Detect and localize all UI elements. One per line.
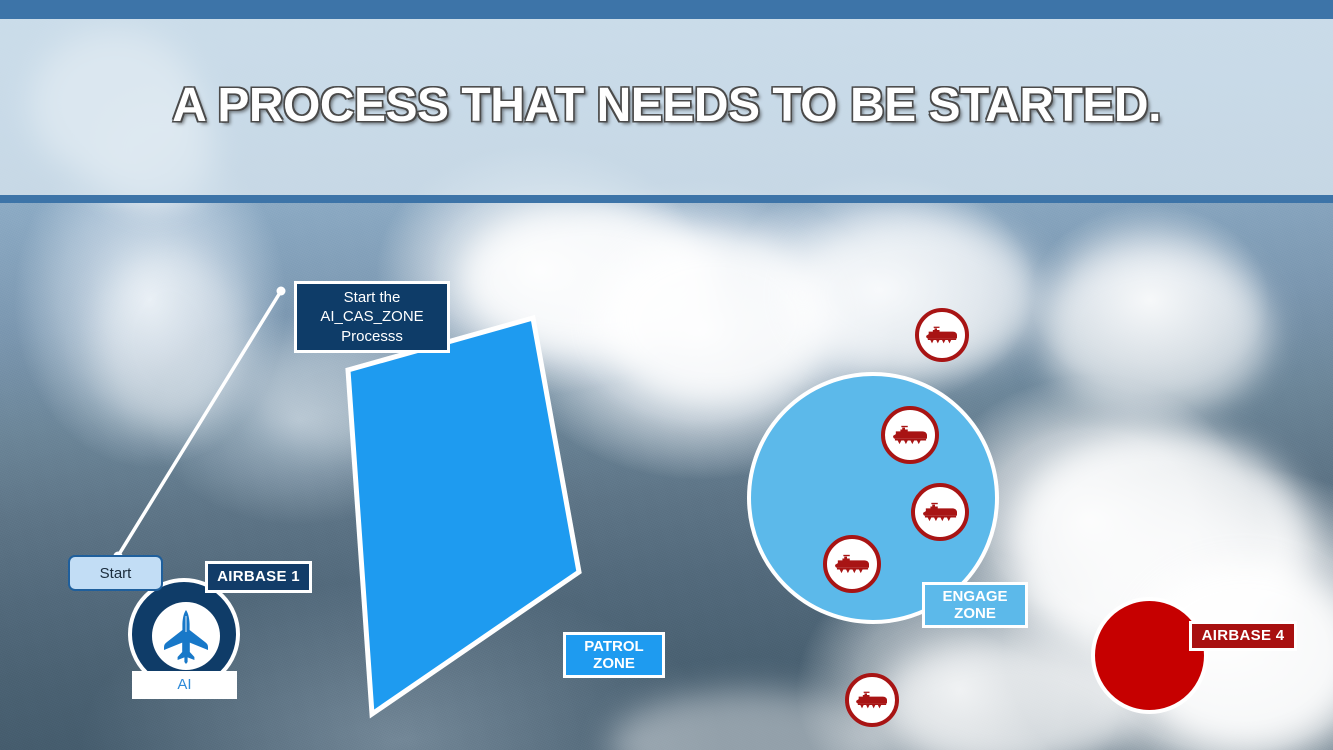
process-line-1: Start the [344,288,401,307]
title-band-rule [0,195,1333,203]
engage-zone-label[interactable]: ENGAGE ZONE [922,582,1028,628]
airbase-1-icon-disc [152,602,220,670]
patrol-zone-label[interactable]: PATROL ZONE [563,632,665,678]
top-accent-bar [0,0,1333,19]
armored-vehicle-icon [922,501,959,523]
enemy-vehicle-marker[interactable] [823,535,881,593]
armored-vehicle-icon [925,325,959,345]
engage-label-line-1: ENGAGE [942,588,1007,605]
process-line-2: AI_CAS_ZONE [320,307,423,326]
process-line-3: Processs [341,327,403,346]
fighter-jet-icon [161,608,211,664]
airbase-4-shape[interactable] [1091,597,1208,714]
engage-label-line-2: ZONE [942,605,1007,622]
page-title: A PROCESS THAT NEEDS TO BE STARTED. [0,78,1333,133]
slide-canvas: A PROCESS THAT NEEDS TO BE STARTED. [0,0,1333,750]
cloud-puff [95,250,245,430]
armored-vehicle-icon [892,424,929,446]
patrol-zone-shape[interactable] [340,310,590,720]
airbase-1-label[interactable]: AIRBASE 1 [205,561,312,593]
armored-vehicle-icon [834,553,871,575]
ai-label[interactable]: AI [132,671,237,699]
patrol-label-line-1: PATROL [584,638,643,655]
armored-vehicle-icon [855,690,889,710]
cloud-puff [1040,245,1270,415]
enemy-vehicle-marker[interactable] [915,308,969,362]
start-button[interactable]: Start [68,555,163,591]
airbase-4-label[interactable]: AIRBASE 4 [1189,621,1297,651]
enemy-vehicle-marker[interactable] [911,483,969,541]
cloud-puff [790,215,1040,375]
enemy-vehicle-marker[interactable] [881,406,939,464]
enemy-vehicle-marker[interactable] [845,673,899,727]
process-callout-box[interactable]: Start the AI_CAS_ZONE Processs [294,281,450,353]
patrol-label-line-2: ZONE [584,655,643,672]
